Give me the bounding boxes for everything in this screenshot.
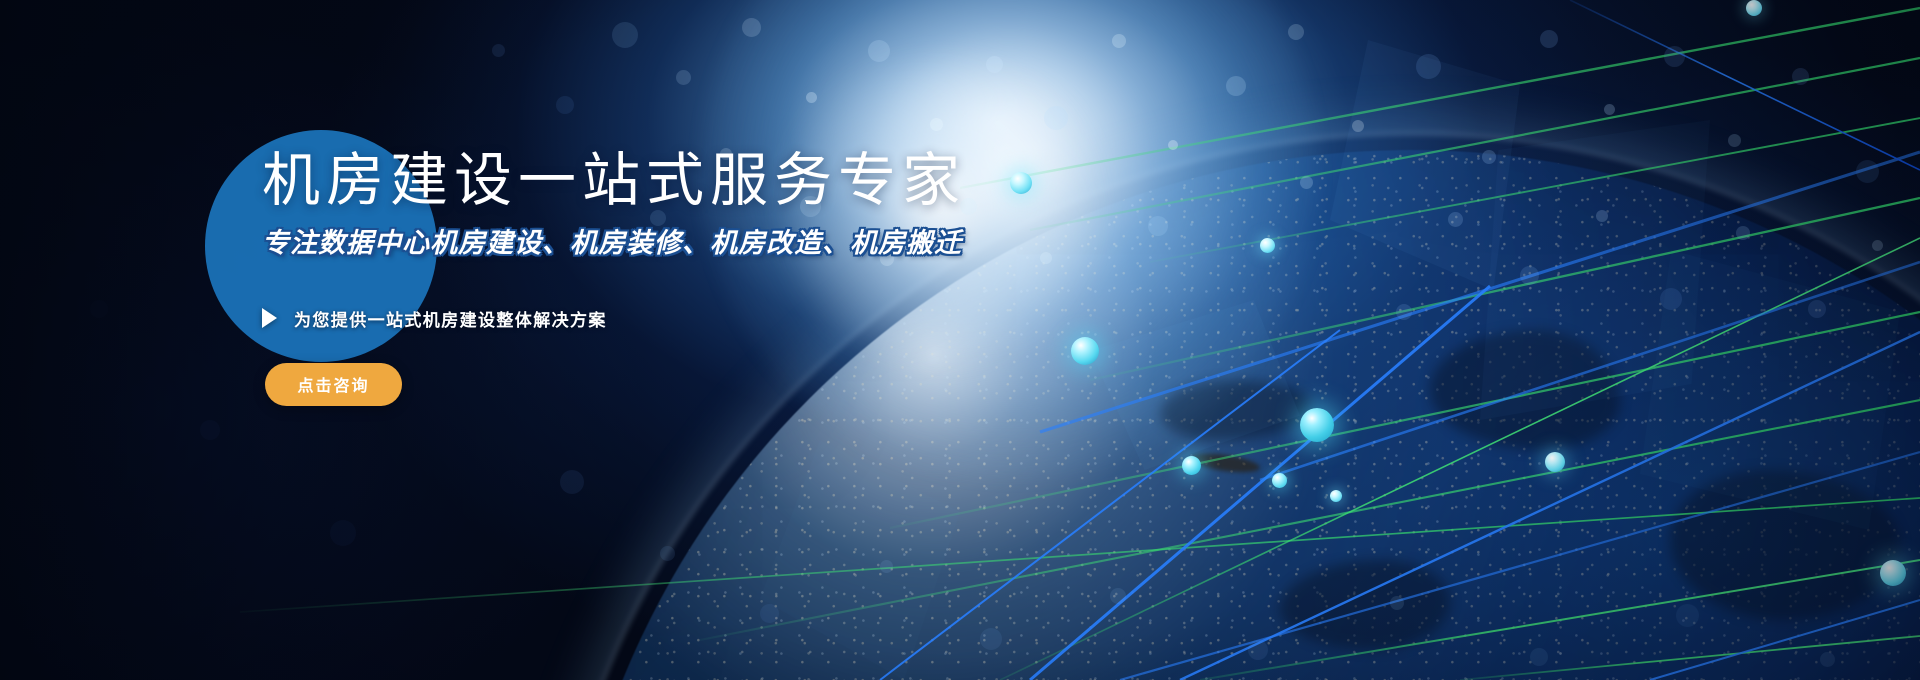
page-subtitle: 专注数据中心机房建设、机房装修、机房改造、机房搬迁: [262, 221, 1362, 260]
consult-button[interactable]: 点击咨询: [265, 363, 402, 406]
page-title: 机房建设一站式服务专家: [262, 150, 1362, 213]
hero-content: 机房建设一站式服务专家 专注数据中心机房建设、机房装修、机房改造、机房搬迁 为您…: [262, 150, 1362, 406]
tagline-label: 为您提供一站式机房建设整体解决方案: [294, 306, 607, 331]
hero-banner: 机房建设一站式服务专家 专注数据中心机房建设、机房装修、机房改造、机房搬迁 为您…: [0, 0, 1920, 680]
play-triangle-icon: [262, 308, 277, 328]
tagline: 为您提供一站式机房建设整体解决方案: [262, 306, 1362, 331]
